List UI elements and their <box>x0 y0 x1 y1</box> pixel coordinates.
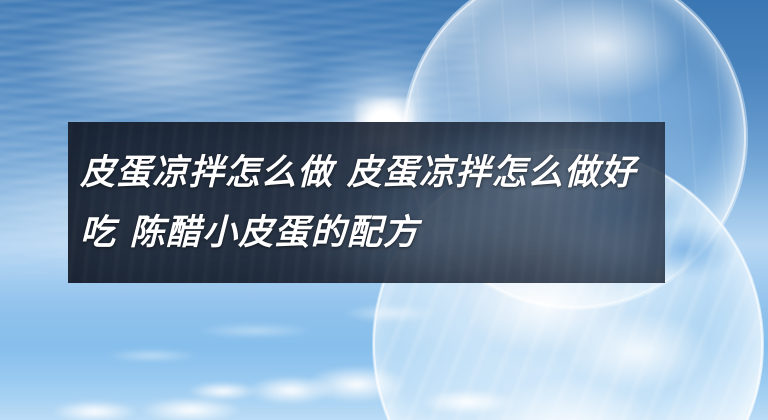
headline-banner: 皮蛋凉拌怎么做 皮蛋凉拌怎么做好吃 陈醋小皮蛋的配方 <box>68 122 665 283</box>
headline-text: 皮蛋凉拌怎么做 皮蛋凉拌怎么做好吃 陈醋小皮蛋的配方 <box>80 143 651 263</box>
cloud-wisp-2 <box>180 320 330 338</box>
headline-text-container: 皮蛋凉拌怎么做 皮蛋凉拌怎么做好吃 陈醋小皮蛋的配方 <box>68 122 665 283</box>
bottom-haze <box>0 350 768 420</box>
cloud-wisp-1 <box>330 300 450 322</box>
thumbnail-canvas: 皮蛋凉拌怎么做 皮蛋凉拌怎么做好吃 陈醋小皮蛋的配方 <box>0 0 768 420</box>
